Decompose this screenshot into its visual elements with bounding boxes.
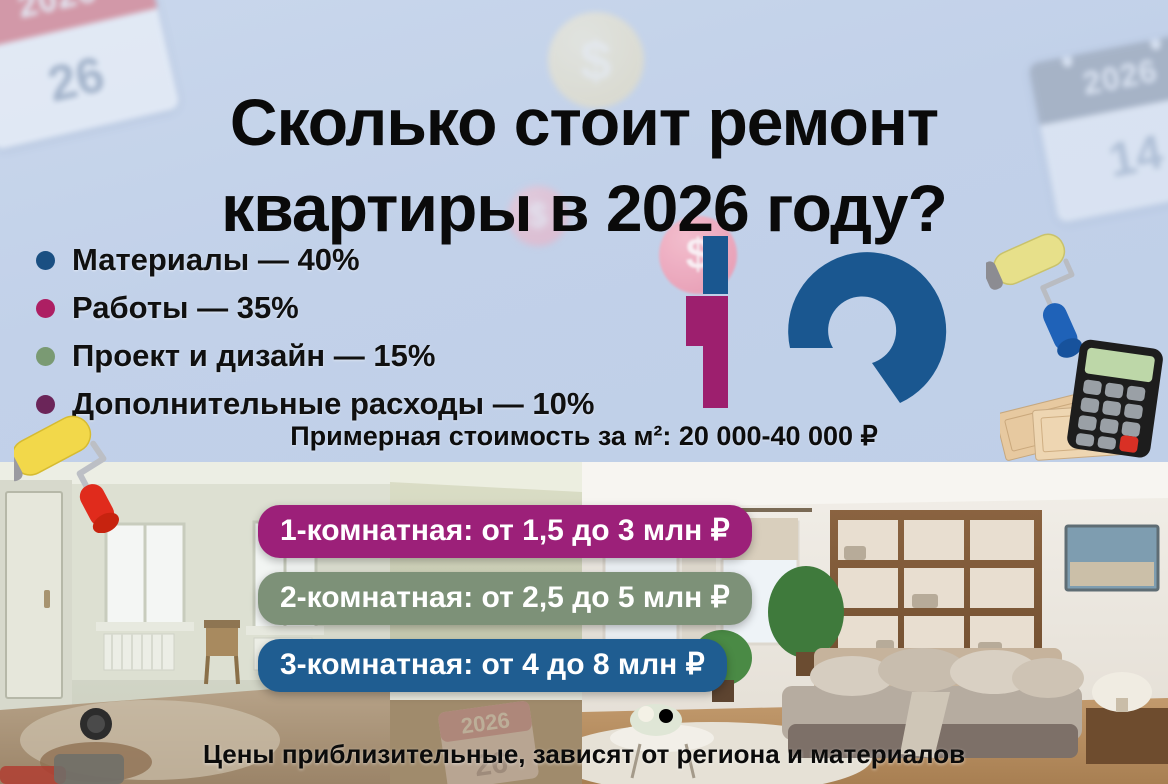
breakdown-item-label: Материалы — 40%: [72, 242, 360, 278]
calendar-ring-icon: [1149, 32, 1162, 52]
list-item: Работы — 35%: [36, 284, 594, 332]
logo-arc: [788, 252, 946, 403]
price-pill-1-room[interactable]: 1-комнатная: от 1,5 до 3 млн ₽: [258, 505, 752, 558]
logo-magenta-bar: [703, 296, 728, 408]
disclaimer-text: Цены приблизительные, зависят от региона…: [0, 739, 1168, 770]
list-item: Проект и дизайн — 15%: [36, 332, 594, 380]
cost-breakdown-list: Материалы — 40% Работы — 35% Проект и ди…: [36, 236, 594, 428]
bullet-dot-icon: [36, 299, 55, 318]
top-section: 2026 26 2026 14 $ $: [0, 0, 1168, 462]
logo-mark: [686, 236, 951, 408]
price-pill-2-room[interactable]: 2-комнатная: от 2,5 до 5 млн ₽: [258, 572, 752, 625]
calendar-year-label: 2026: [0, 0, 157, 51]
price-pill-list: 1-комнатная: от 1,5 до 3 млн ₽ 2-комнатн…: [258, 505, 752, 706]
calculator-icon: [1066, 338, 1164, 459]
price-pill-3-room[interactable]: 3-комнатная: от 4 до 8 млн ₽: [258, 639, 727, 692]
per-square-meter-price: Примерная стоимость за м²: 20 000-40 000…: [0, 421, 1168, 452]
calendar-ring-icon: [1060, 49, 1073, 69]
breakdown-item-label: Работы — 35%: [72, 290, 299, 326]
bullet-dot-icon: [36, 347, 55, 366]
breakdown-item-label: Проект и дизайн — 15%: [72, 338, 435, 374]
paint-roller-icon: [14, 405, 154, 533]
page-title: Сколько стоит ремонт: [0, 80, 1168, 164]
calculator-and-money-group: [1000, 330, 1168, 462]
infographic-poster: 2026 26 2026 14 $ $: [0, 0, 1168, 784]
list-item: Материалы — 40%: [36, 236, 594, 284]
bullet-dot-icon: [36, 251, 55, 270]
